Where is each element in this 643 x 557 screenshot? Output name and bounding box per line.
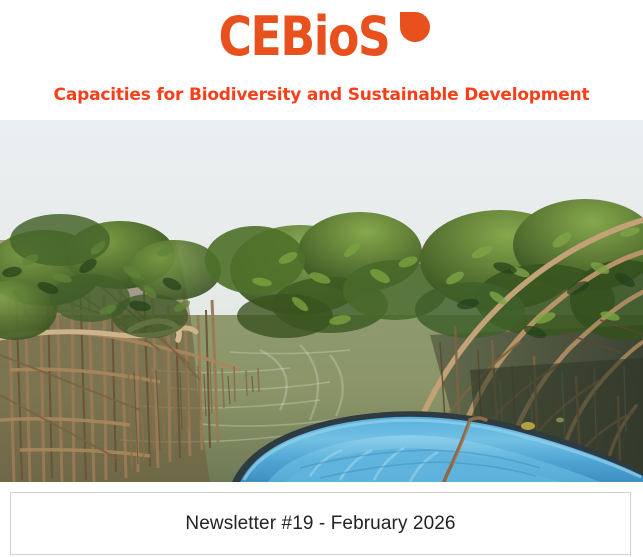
newsletter-caption: Newsletter #19 - February 2026 <box>185 513 455 535</box>
cebios-wordmark: CEBioS <box>219 10 390 64</box>
cebios-logo[interactable]: CEBioS <box>0 6 643 68</box>
cebios-drop-icon <box>400 12 430 42</box>
page-header: CEBioS Capacities for Biodiversity and S… <box>0 0 643 120</box>
hero-mangrove-photo <box>0 120 643 482</box>
page-tagline: Capacities for Biodiversity and Sustaina… <box>0 85 643 105</box>
mangrove-illustration <box>0 120 643 482</box>
newsletter-caption-box: Newsletter #19 - February 2026 <box>10 492 631 555</box>
